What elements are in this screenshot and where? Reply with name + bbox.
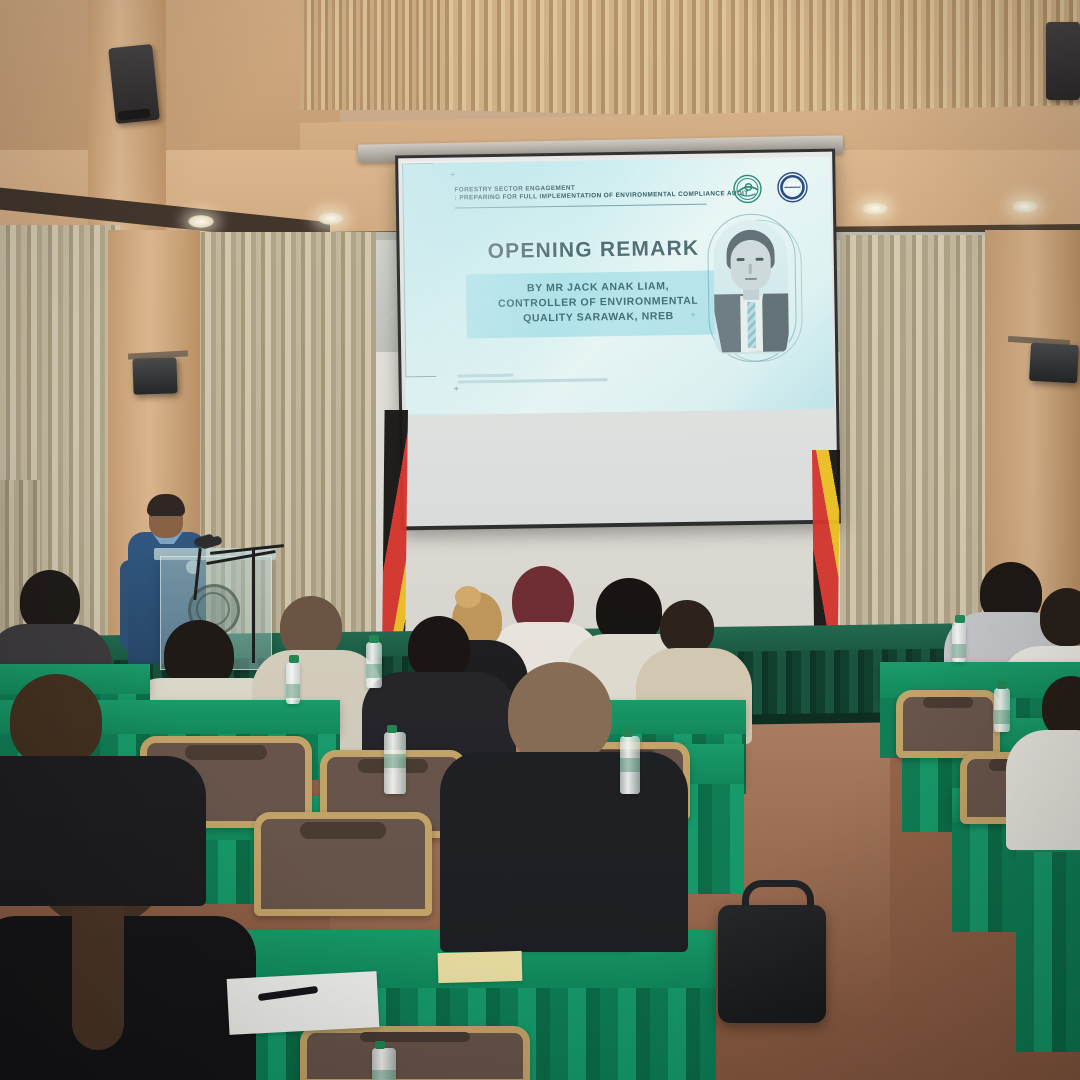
chair-mid-1[interactable] [254,812,432,916]
slide-footer-line2 [457,378,607,383]
wall-speaker-left-icon [132,357,177,395]
portrait-image [713,219,789,354]
slide-kicker: FORESTRY SECTOR ENGAGEMENT : PREPARING F… [454,182,754,202]
downlight-3 [862,202,888,215]
presenter-glasses-icon [151,514,181,523]
portrait-tie [747,302,756,348]
downlight-1 [188,215,214,228]
note-paper[interactable] [227,971,380,1035]
slide-footer-line1 [457,374,513,378]
chair-front-1[interactable] [300,1026,530,1080]
slide-kicker-rule [455,204,707,209]
portrait-eye-right [756,258,764,261]
portrait-eye-left [737,258,745,261]
wall-speaker-right-icon [1029,343,1079,383]
water-bottle-7[interactable] [372,1048,396,1080]
slide-corner-bracket [402,163,436,377]
nreb-logo-icon [732,174,762,204]
presenter-hair [147,494,185,516]
sarawak-state-logo-icon [776,171,808,203]
flag-left [382,410,408,660]
slide-tick-top: + [450,171,455,180]
chair-right-2[interactable] [896,690,1000,758]
downlight-2 [318,212,344,225]
backpack-on-floor [718,905,826,1023]
water-bottle-6[interactable] [994,688,1010,732]
water-bottle-4[interactable] [286,662,300,704]
slide-title: OPENING REMARK [463,236,723,264]
yellow-notepad[interactable] [438,951,523,983]
slide-portrait [703,213,801,364]
attendee-hair-bun [455,586,481,608]
portrait-mouth [745,278,757,280]
slide-subtitle-box: BY MR JACK ANAK LIAM, CONTROLLER OF ENVI… [466,270,731,338]
wood-slat-ceiling-upper [440,0,1080,125]
water-bottle-2[interactable] [384,732,406,794]
water-bottle-5[interactable] [952,622,966,662]
ceiling-left-panel [0,0,340,175]
presentation-slide: + + + + FORESTRY SECTOR ENGAGEMENT : PRE… [402,157,834,416]
downlight-4 [1012,200,1038,213]
slide-footer-text [457,372,647,387]
microphone-stand-2 [252,548,255,663]
curtain-right [840,235,990,655]
ceiling-speaker-right-icon [1046,22,1080,100]
flag-right [812,450,840,650]
water-bottle-1[interactable] [366,642,382,688]
portrait-nose [749,264,752,274]
water-bottle-3[interactable] [620,736,640,794]
conference-hall-photo: + + + + FORESTRY SECTOR ENGAGEMENT : PRE… [0,0,1080,1080]
